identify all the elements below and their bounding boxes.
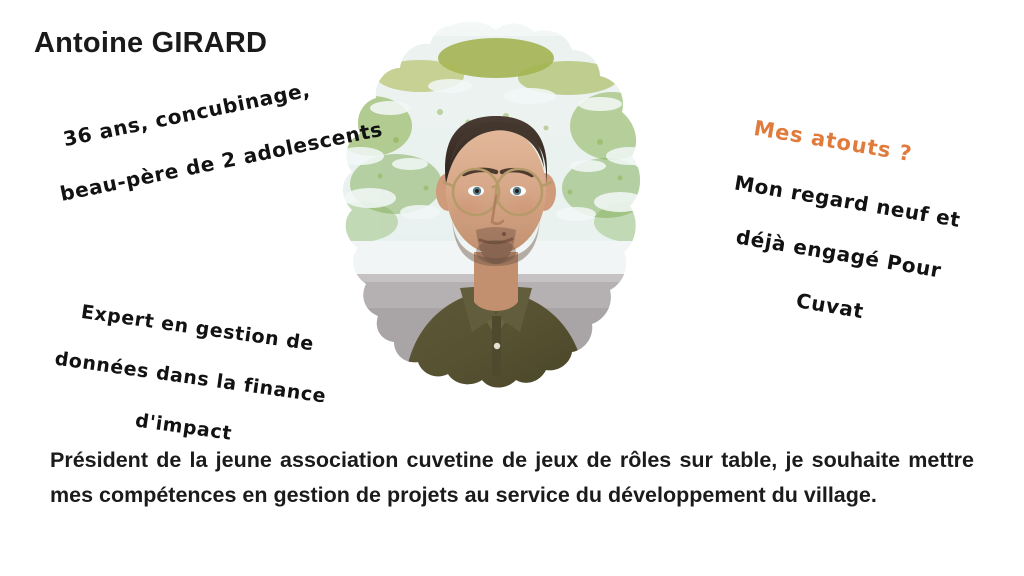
- annotation-expertise-line-1: Expert en gestion de: [57, 297, 338, 361]
- page-title: Antoine GIRARD: [34, 27, 267, 60]
- bio-paragraph: Président de la jeune association cuveti…: [50, 443, 974, 513]
- slide-canvas: Antoine GIRARD: [0, 0, 1024, 576]
- annotation-expertise-line-2: données dans la finance: [50, 347, 331, 411]
- annotation-atouts: Mon regard neuf et déjà engagé Pour Cuva…: [676, 138, 1002, 370]
